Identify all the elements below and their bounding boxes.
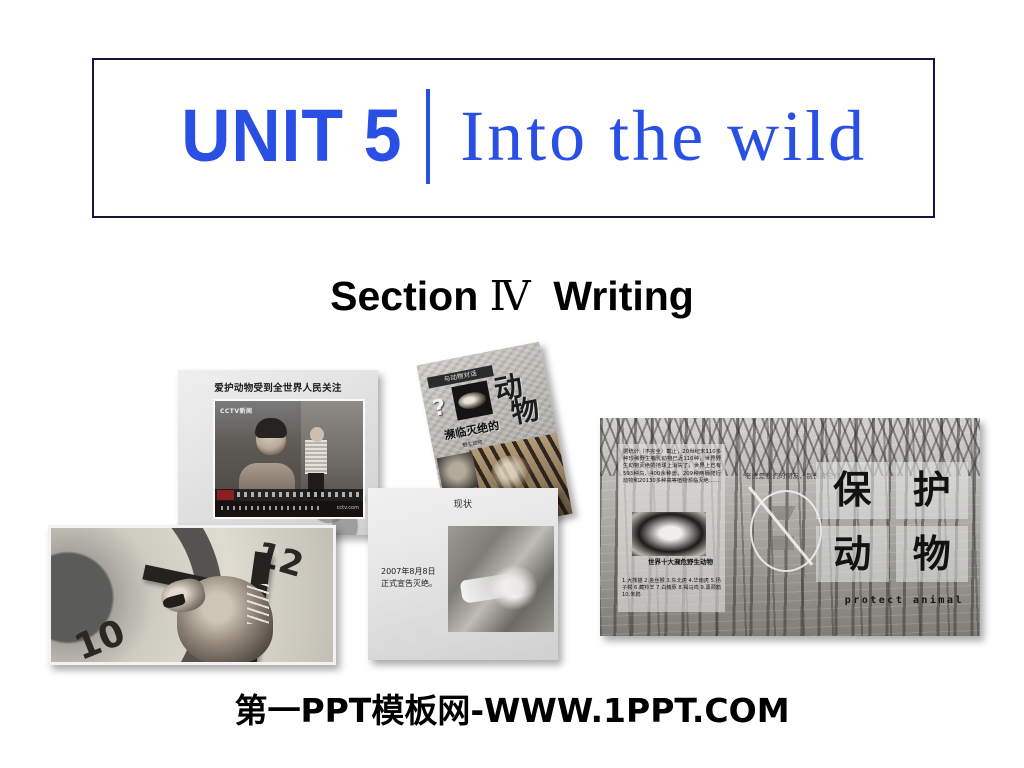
poster-headline-char-4: 物 (896, 526, 969, 583)
tv-screen-frame: CCTV新闻 cctv.com (213, 399, 365, 519)
section-roman-numeral: Ⅳ (490, 273, 531, 319)
collage-image-protect-animal-poster: 据统计（不完全）截止，20世纪末110多种珍稀野生哺乳动物已近110种，世界野生… (600, 418, 980, 636)
magazine-eye-photo (451, 380, 493, 420)
image-collage: 爱护动物受到全世界人民关注 CCTV新闻 cctv.com 与动物对话 ? (0, 340, 1024, 680)
page-title: Section Ⅳ Writing (0, 272, 1024, 320)
news-ticker-bar (215, 489, 363, 501)
ppt-slide-photo (448, 526, 554, 632)
statusbar-text-lines (221, 506, 323, 510)
title-banner-inner: UNIT 5 Into the wild (160, 89, 867, 184)
poster-headline-char-2: 护 (896, 462, 969, 519)
unit-title: Into the wild (430, 100, 867, 172)
unit-label: UNIT 5 (181, 99, 426, 173)
section-heading-suffix: Writing (531, 273, 694, 319)
poster-headline-char-1: 保 (816, 462, 889, 519)
tv-news-slide-title: 爱护动物受到全世界人民关注 (178, 380, 378, 394)
interviewee-head (310, 427, 324, 442)
ppt-slide-title: 现状 (368, 497, 558, 510)
statusbar-site-label: cctv.com (337, 505, 359, 511)
section-heading-prefix: Section (330, 273, 489, 319)
ppt-slide-body-text: 2007年8月8日正式宣告灭绝。 (381, 566, 441, 590)
collage-image-ppt-slide: 现状 2007年8月8日正式宣告灭绝。 (368, 488, 558, 660)
poster-english-caption: protect animal (845, 595, 964, 606)
poster-info-panel: 据统计（不完全）截止，20世纪末110多种珍稀野生哺乳动物已近110种，世界野生… (618, 444, 725, 612)
poster-headline-char-3: 动 (816, 526, 889, 583)
collage-image-clock-bear: 12 10 (48, 525, 336, 665)
poster-endangered-list: 1.大熊猫 2.金丝猴 3.东北虎 4.华南虎 5.扬子鳄 6.藏羚羊 7.白鳍… (622, 578, 722, 600)
news-statusbar: cctv.com (215, 501, 363, 517)
interviewee-body (305, 440, 327, 474)
poster-panda-photo (632, 512, 706, 556)
footer-watermark: 第一PPT模板网-WWW.1PPT.COM (0, 684, 1024, 732)
poster-info-caption: 世界十大濒危野生动物 (648, 558, 724, 567)
title-banner: UNIT 5 Into the wild (92, 58, 935, 218)
ticker-time-badge (217, 490, 234, 500)
poster-statistics-text: 据统计（不完全）截止，20世纪末110多种珍稀野生哺乳动物已近110种，世界野生… (623, 449, 721, 485)
poster-headline-grid: 保 护 动 物 (816, 462, 968, 582)
news-anchor-hair (255, 418, 287, 438)
ticker-text-lines (237, 492, 359, 497)
collage-image-tv-news: 爱护动物受到全世界人民关注 CCTV新闻 cctv.com (178, 370, 378, 535)
bear-claws (247, 584, 269, 624)
cctv-logo: CCTV新闻 (220, 406, 253, 415)
